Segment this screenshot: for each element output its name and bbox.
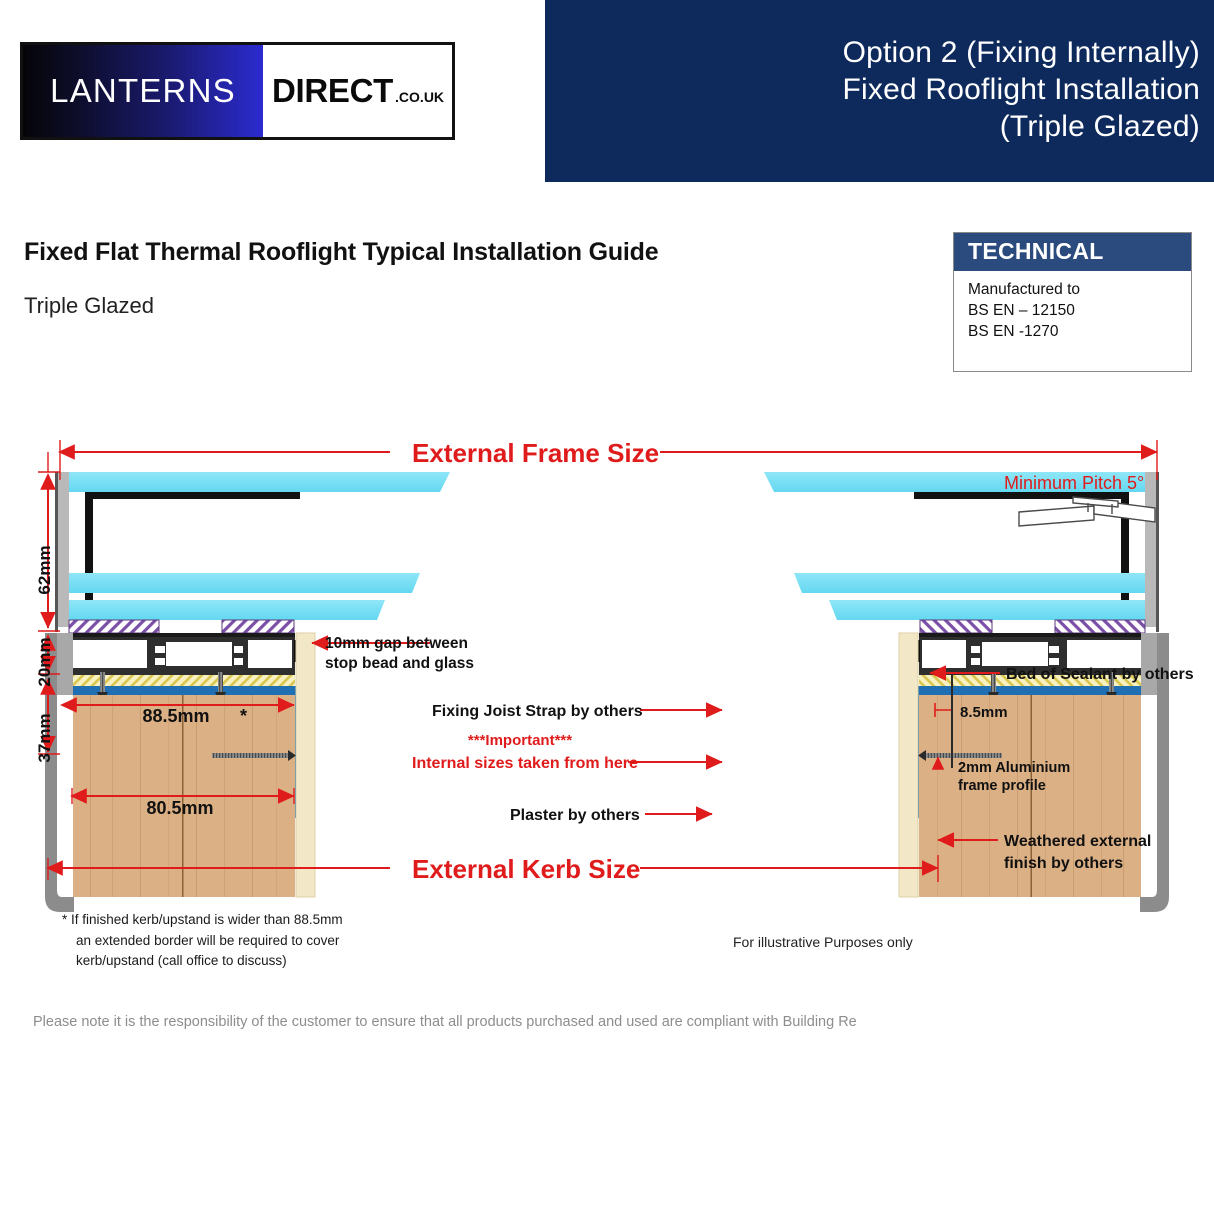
minimum-pitch-label: Minimum Pitch 5° (1004, 473, 1144, 493)
technical-box-body: Manufactured to BS EN – 12150 BS EN -127… (954, 271, 1191, 342)
callout-aluminium-profile-line1: 2mm Aluminium (958, 760, 1070, 776)
external-frame-size-label: External Frame Size (412, 438, 659, 468)
callout-aluminium-profile-line2: frame profile (958, 778, 1046, 794)
logo-direct-block: DIRECT .CO.UK (263, 45, 452, 137)
page-title: Fixed Flat Thermal Rooflight Typical Ins… (24, 238, 658, 267)
page-subtitle: Triple Glazed (24, 293, 154, 319)
logo-lanterns-block: LANTERNS (23, 45, 263, 137)
callout-important: ***Important*** (468, 732, 572, 749)
callout-weathered-line2: finish by others (1004, 855, 1123, 872)
technical-line-3: BS EN -1270 (968, 321, 1191, 342)
minimum-pitch-icon (1019, 497, 1155, 526)
logo-tld-text: .CO.UK (395, 89, 444, 105)
footnote-line-1: * If finished kerb/upstand is wider than… (62, 910, 343, 931)
dimension-37mm: 37mm (35, 713, 54, 762)
callout-stop-bead-gap-line2: stop bead and glass (325, 655, 474, 672)
header-banner: Option 2 (Fixing Internally) Fixed Roofl… (545, 0, 1214, 182)
technical-line-2: BS EN – 12150 (968, 300, 1191, 321)
logo-direct-text: DIRECT (272, 72, 393, 110)
callout-weathered-line1: Weathered external (1004, 833, 1151, 850)
company-logo: LANTERNS DIRECT .CO.UK (20, 42, 455, 140)
technical-box: TECHNICAL Manufactured to BS EN – 12150 … (953, 232, 1192, 372)
dimension-20mm: 20mm (35, 637, 54, 686)
header-title-line-1: Option 2 (Fixing Internally) (843, 34, 1200, 71)
footnote-line-3: kerb/upstand (call office to discuss) (62, 951, 343, 972)
technical-box-heading: TECHNICAL (954, 233, 1191, 271)
footnote-line-2: an extended border will be required to c… (62, 931, 343, 952)
callout-plaster-by-others: Plaster by others (510, 807, 640, 824)
left-cross-section (45, 472, 450, 912)
callout-stop-bead-gap-line1: 10mm gap between (325, 635, 468, 652)
callout-fixing-joist-strap: Fixing Joist Strap by others (432, 703, 643, 720)
external-kerb-size-label: External Kerb Size (412, 854, 640, 884)
aluminium-frame-profile-left (57, 633, 295, 675)
callout-bed-of-sealant: Bed of Sealant by others (1006, 666, 1194, 683)
dimension-80-5mm: 80.5mm (146, 798, 213, 818)
dimension-88-5mm-asterisk: * (240, 706, 247, 726)
logo-lanterns-text: LANTERNS (50, 72, 236, 110)
illustrative-purposes-note: For illustrative Purposes only (733, 934, 913, 950)
compliance-disclaimer: Please note it is the responsibility of … (33, 1014, 857, 1030)
dimension-88-5mm: 88.5mm (142, 706, 209, 726)
dimension-8-5mm: 8.5mm (960, 704, 1008, 721)
header-title-line-3: (Triple Glazed) (1000, 108, 1200, 145)
callout-internal-sizes: Internal sizes taken from here (412, 755, 638, 772)
dimension-62mm: 62mm (35, 545, 54, 594)
kerb-footnote: * If finished kerb/upstand is wider than… (62, 910, 343, 972)
header-title-line-2: Fixed Rooflight Installation (843, 71, 1200, 108)
technical-line-1: Manufactured to (968, 279, 1191, 300)
